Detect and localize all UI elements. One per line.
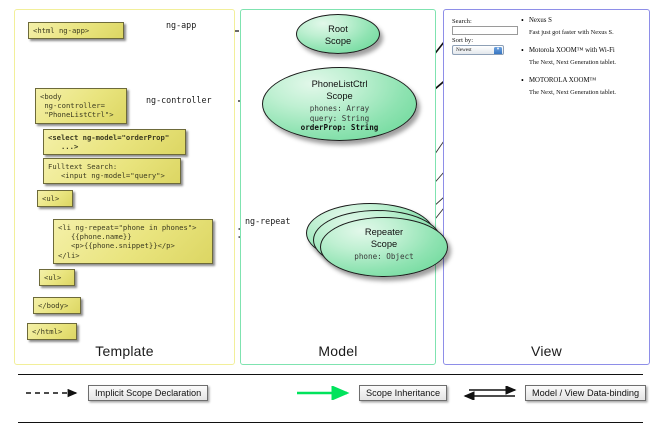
search-input[interactable] [452,26,518,35]
legend-item-implicit-scope: Implicit Scope Declaration [26,385,208,401]
phone-snippet: The Next, Next Generation tablet. [520,89,648,97]
edge-label-ng-controller: ng-controller [146,95,212,105]
scope-root-title-2: Scope [325,36,351,46]
phone-name: MOTOROLA XOOM™ [520,76,648,85]
list-item[interactable]: Motorola XOOM™ with Wi-Fi The Next, Next… [520,46,648,67]
code-box-html-open: <html ng-app> [28,22,124,39]
edge-label-ng-app: ng-app [166,20,196,30]
panel-view-label: View [444,343,649,359]
scope-ctrl-prop-phones: phones: Array [263,104,416,114]
list-item[interactable]: MOTOROLA XOOM™ The Next, Next Generation… [520,76,648,97]
code-box-ul-open: <ul> [37,190,73,207]
code-box-html-close: </html> [27,323,77,340]
scope-repeater-title-2: Scope [371,239,397,249]
code-box-select-tag: <select ng-model="orderProp" ...> [43,129,186,155]
code-box-li-repeat: <li ng-repeat="phone in phones"> {{phone… [53,219,213,264]
legend-label-scope-inheritance: Scope Inheritance [359,385,447,401]
diagram-canvas: Template <html ng-app> <body ng-controll… [0,0,661,425]
scope-ctrl-title-2: Scope [326,91,352,101]
legend-item-data-binding: Model / View Data-binding [463,385,646,401]
phone-snippet: Fast just got faster with Nexus S. [520,29,648,37]
scope-repeater: Repeater Scope phone: Object [320,217,448,277]
code-box-fulltext-search: Fulltext Search: <input ng-model="query"… [43,158,181,184]
legend-divider-bottom [18,422,643,423]
chevron-updown-icon: ▾ [494,47,502,55]
scope-root: Root Scope [296,14,380,54]
view-search-form: Search: Sort by: Newest ▾ [452,18,522,55]
phone-list: Nexus S Fast just got faster with Nexus … [520,16,648,106]
code-box-ul-close: <ul> [39,269,75,286]
sort-select-value: Newest [456,47,472,53]
scope-repeater-title-1: Repeater [365,227,403,237]
legend-divider-top [18,374,643,375]
panel-template-label: Template [15,343,234,359]
sort-select[interactable]: Newest ▾ [452,45,504,55]
scope-ctrl-prop-orderprop: orderProp: String [301,123,379,132]
panel-model-label: Model [241,343,435,359]
sort-label: Sort by: [452,37,522,44]
dashed-arrow-icon [26,386,82,400]
phone-name: Nexus S [520,16,648,25]
double-arrow-icon [463,386,519,400]
scope-ctrl-title-1: PhoneListCtrl [312,79,368,89]
phone-name: Motorola XOOM™ with Wi-Fi [520,46,648,55]
code-box-body-open: <body ng-controller= "PhoneListCtrl"> [35,88,127,124]
scope-repeater-prop-phone: phone: Object [321,252,447,262]
phone-snippet: The Next, Next Generation tablet. [520,59,648,67]
scope-root-title-1: Root [328,24,348,34]
legend-item-scope-inheritance: Scope Inheritance [297,385,447,401]
scope-phonelistctrl: PhoneListCtrl Scope phones: Array query:… [262,67,417,141]
green-arrow-icon [297,386,353,400]
list-item[interactable]: Nexus S Fast just got faster with Nexus … [520,16,648,37]
scope-ctrl-prop-query: query: String [263,114,416,124]
legend-label-data-binding: Model / View Data-binding [525,385,646,401]
legend-label-implicit-scope: Implicit Scope Declaration [88,385,208,401]
panel-model: Model [240,9,436,365]
legend: Implicit Scope Declaration Scope Inherit… [0,374,661,425]
edge-label-ng-repeat: ng-repeat [245,216,290,226]
search-label: Search: [452,18,522,25]
code-box-body-close: </body> [33,297,81,314]
